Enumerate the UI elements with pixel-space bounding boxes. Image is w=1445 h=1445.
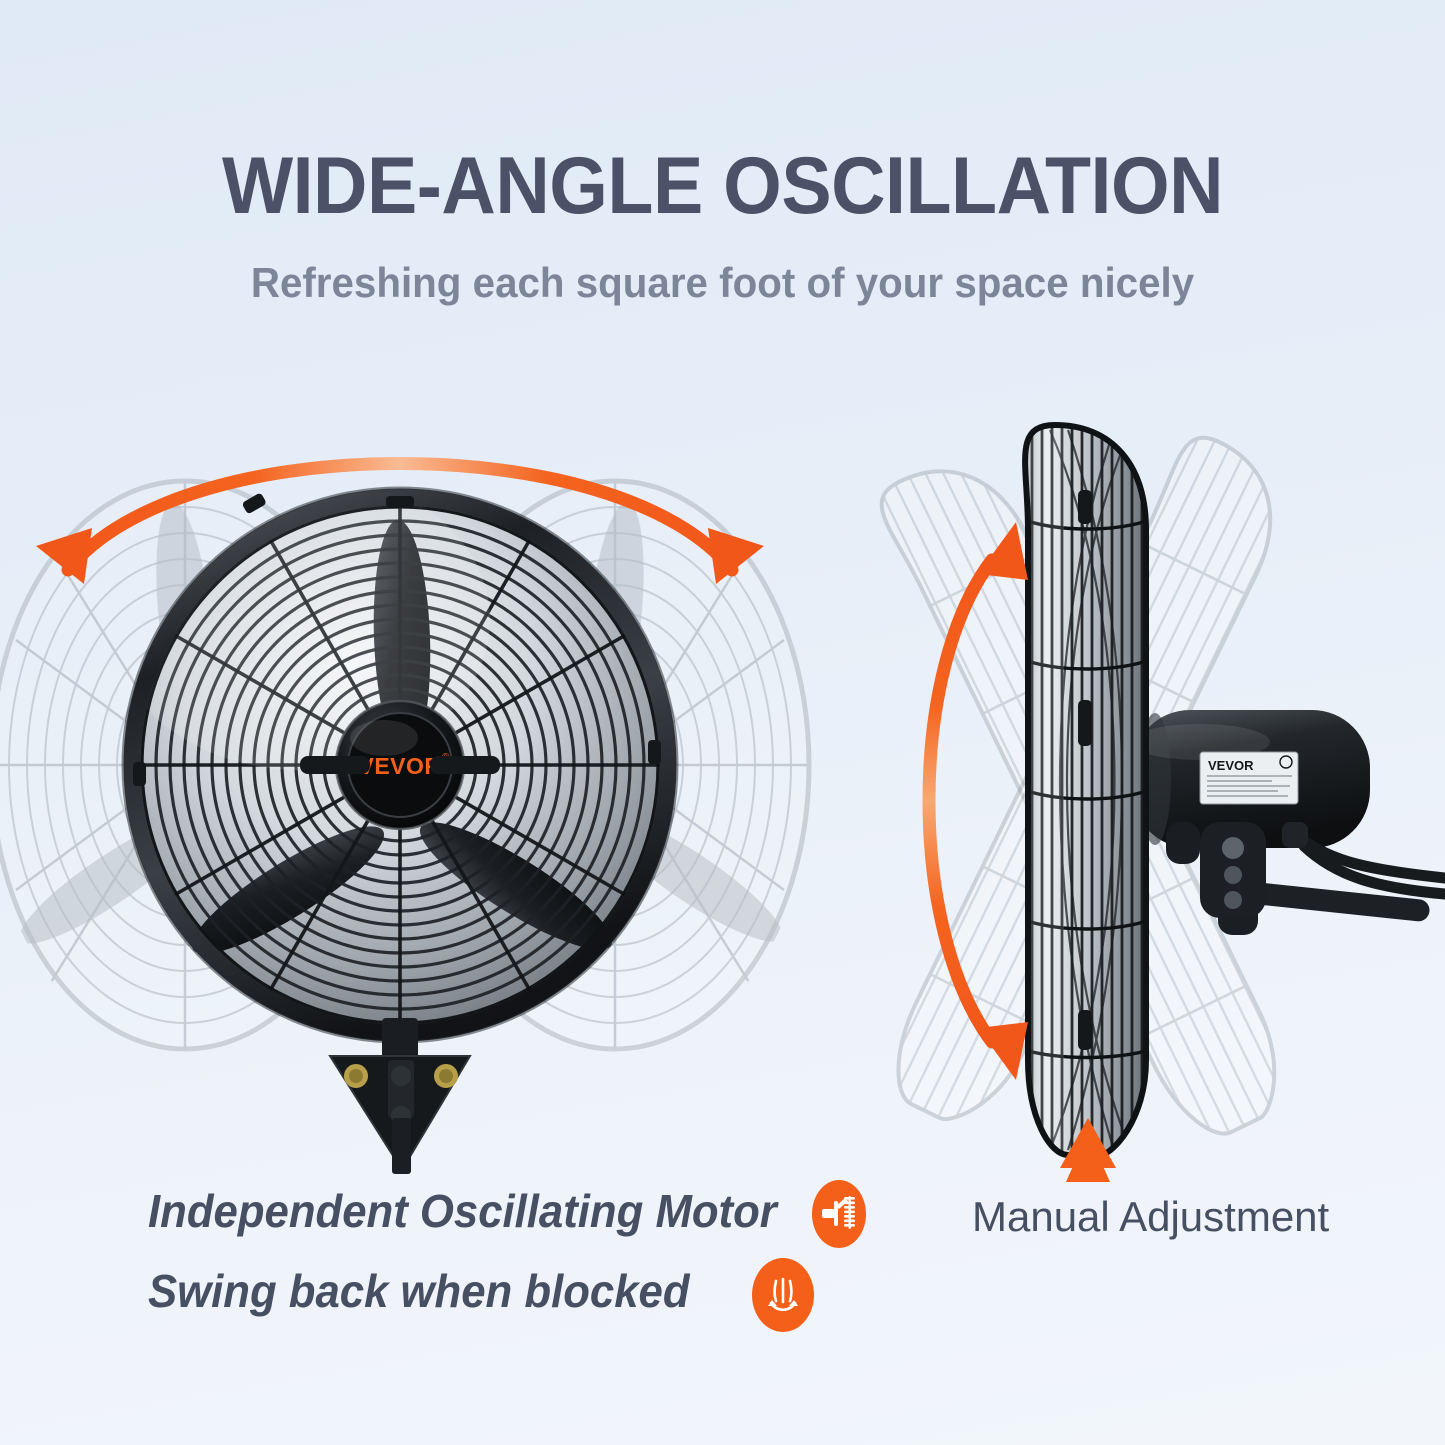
- wall-mount-bracket: [330, 1018, 470, 1174]
- power-cords: [1300, 838, 1445, 894]
- callout-label-manual-adjustment: Manual Adjustment: [972, 1193, 1329, 1241]
- marketing-banner: WIDE-ANGLE OSCILLATION Refreshing each s…: [0, 0, 1445, 1445]
- front-view-fan-image: VEVOR ®: [0, 370, 800, 1170]
- oscillating-motor-icon: [812, 1180, 866, 1248]
- feature-label-swing-back: Swing back when blocked: [148, 1264, 690, 1318]
- motor-spec-label: VEVOR: [1200, 752, 1298, 804]
- motor-label-brand: VEVOR: [1208, 758, 1254, 773]
- hub-brand-label: VEVOR: [358, 753, 441, 779]
- page-title: WIDE-ANGLE OSCILLATION: [51, 146, 1395, 227]
- side-view-fan-image: VEVOR: [900, 370, 1445, 1200]
- page-subtitle: Refreshing each square foot of your spac…: [29, 262, 1416, 304]
- feature-label-oscillating-motor: Independent Oscillating Motor: [148, 1184, 777, 1238]
- swing-back-icon: [752, 1258, 814, 1332]
- fan-guard-side-profile: [1020, 410, 1154, 1170]
